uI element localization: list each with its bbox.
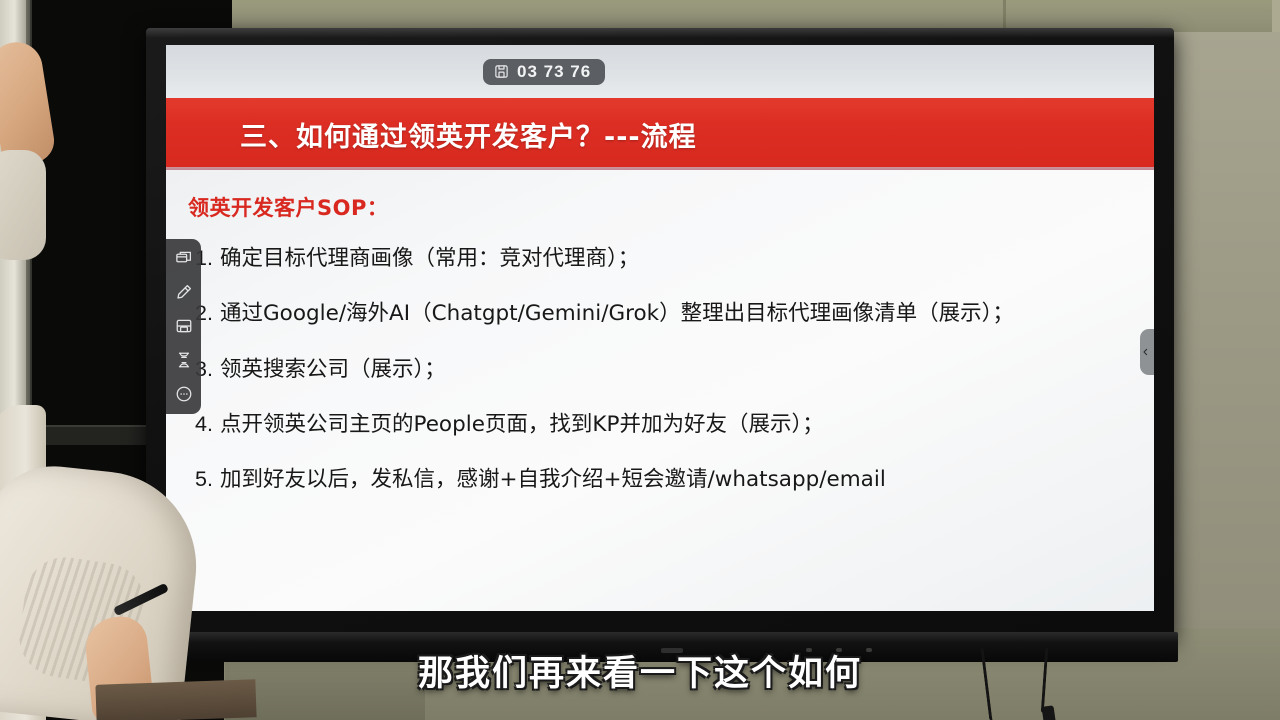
sop-list: 1. 确定目标代理商画像（常用：竞对代理商）； 2. 通过Google/海外AI… bbox=[166, 246, 1154, 493]
wall-seam-right bbox=[1272, 0, 1280, 32]
more-options-icon[interactable] bbox=[173, 383, 195, 405]
video-caption: 那我们再来看一下这个如何 bbox=[0, 645, 1280, 696]
pen-annotate-icon[interactable] bbox=[173, 281, 195, 303]
timer-badge[interactable]: 03 73 76 bbox=[483, 59, 605, 85]
windows-switch-icon[interactable] bbox=[173, 247, 195, 269]
presentation-display: 03 73 76 三、如何通过领英开发客户？---流程 领英开发客户SOP： 1… bbox=[146, 28, 1174, 640]
timer-value: 03 73 76 bbox=[517, 63, 591, 80]
sop-item-text: 加到好友以后，发私信，感谢+自我介绍+短会邀请/whatsapp/email bbox=[220, 467, 886, 492]
sop-item-5: 5. 加到好友以后，发私信，感谢+自我介绍+短会邀请/whatsapp/emai… bbox=[166, 467, 1154, 492]
slide-top-strip: 03 73 76 bbox=[166, 45, 1154, 98]
person-upper-sleeve bbox=[0, 150, 46, 260]
slide-title: 三、如何通过领英开发客户？---流程 bbox=[240, 115, 697, 154]
save-screenshot-icon bbox=[494, 64, 509, 79]
hourglass-timer-icon[interactable] bbox=[173, 349, 195, 371]
sop-item-text: 领英搜索公司（展示）； bbox=[220, 357, 446, 382]
slide-title-band: 三、如何通过领英开发客户？---流程 bbox=[166, 98, 1154, 170]
sop-item-3: 3. 领英搜索公司（展示）； bbox=[166, 357, 1154, 382]
sop-heading: 领英开发客户SOP： bbox=[188, 192, 1154, 222]
sop-item-text: 通过Google/海外AI（Chatgpt/Gemini/Grok）整理出目标代… bbox=[220, 301, 1014, 326]
save-capture-icon[interactable] bbox=[173, 315, 195, 337]
sop-item-text: 点开领英公司主页的People页面，找到KP并加为好友（展示）； bbox=[220, 412, 824, 437]
tv-bezel-sheen bbox=[146, 28, 1174, 38]
sop-item-number: 5. bbox=[195, 467, 220, 492]
sop-item-4: 4. 点开领英公司主页的People页面，找到KP并加为好友（展示）； bbox=[166, 412, 1154, 437]
right-panel-handle[interactable] bbox=[1140, 329, 1154, 375]
sop-item-2: 2. 通过Google/海外AI（Chatgpt/Gemini/Grok）整理出… bbox=[166, 301, 1154, 326]
chevron-left-icon bbox=[1141, 345, 1150, 359]
sop-item-1: 1. 确定目标代理商画像（常用：竞对代理商）； bbox=[166, 246, 1154, 271]
scene-root: 03 73 76 三、如何通过领英开发客户？---流程 领英开发客户SOP： 1… bbox=[0, 0, 1280, 720]
tv-screen: 03 73 76 三、如何通过领英开发客户？---流程 领英开发客户SOP： 1… bbox=[166, 45, 1154, 611]
screen-side-toolbar[interactable] bbox=[166, 239, 201, 414]
sop-item-text: 确定目标代理商画像（常用：竞对代理商）； bbox=[220, 246, 639, 271]
wall-right bbox=[1168, 32, 1280, 720]
slide-body: 领英开发客户SOP： 1. 确定目标代理商画像（常用：竞对代理商）； 2. 通过… bbox=[166, 170, 1154, 611]
sop-item-number: 4. bbox=[195, 412, 220, 437]
